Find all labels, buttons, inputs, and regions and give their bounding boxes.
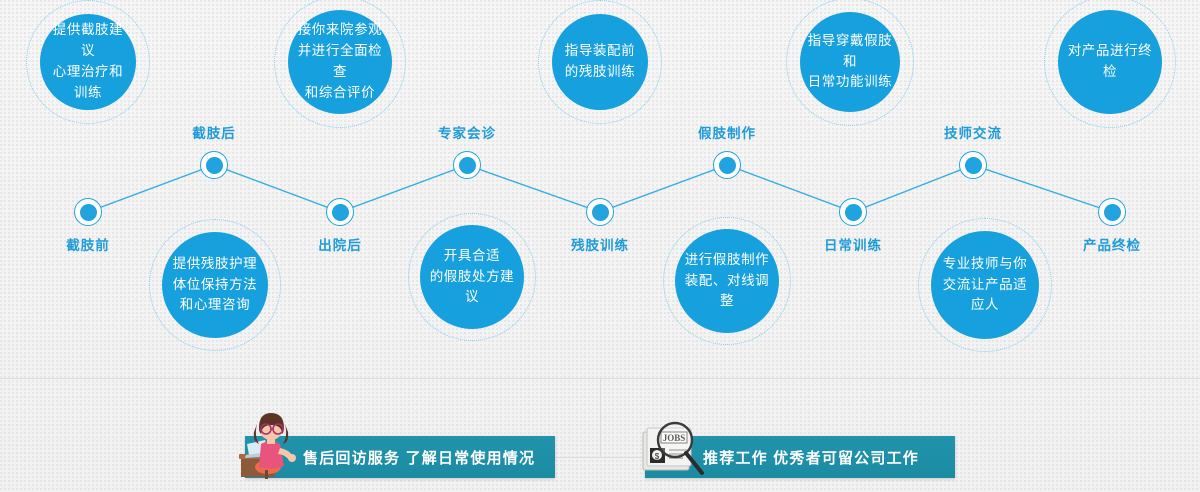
timeline-node-label-8: 技师交流 <box>913 122 1033 142</box>
timeline-node-label-9: 产品终检 <box>1052 234 1172 254</box>
banner-jobs-label: 推荐工作 优秀者可留公司工作 <box>703 447 919 468</box>
timeline-node-label-1: 截肢前 <box>28 234 148 254</box>
bubble-pre-fitting-label: 指导装配前 的残肢训练 <box>565 41 636 83</box>
timeline-node-label-2: 截肢后 <box>154 122 274 142</box>
timeline-node-2[interactable] <box>200 151 228 179</box>
timeline-node-6[interactable] <box>713 151 741 179</box>
bubble-amputation-advice[interactable]: 提供截肢建议 心理治疗和训练 <box>40 14 136 110</box>
bubble-stump-care[interactable]: 提供残肢护理 体位保持方法 和心理咨询 <box>162 232 268 338</box>
bubble-prescription-label: 开具合适 的假肢处方建议 <box>426 246 518 309</box>
banner-jobs[interactable]: JOBS $ 推荐工作 优秀者可留公司工作 <box>645 436 955 478</box>
bubble-prescription[interactable]: 开具合适 的假肢处方建议 <box>420 225 524 329</box>
banner-aftersales-label: 售后回访服务 了解日常使用情况 <box>303 447 535 468</box>
bubble-wearing-guidance-label: 指导穿戴假肢和 日常功能训练 <box>806 31 894 94</box>
timeline-node-9[interactable] <box>1098 198 1126 226</box>
bubble-technician-chat[interactable]: 专业技师与你 交流让产品适应人 <box>931 231 1039 339</box>
jobs-newspaper-magnifier-icon: JOBS $ <box>635 410 713 482</box>
woman-at-desk-icon <box>235 410 313 482</box>
svg-text:$: $ <box>655 452 660 461</box>
bubble-amputation-advice-label: 提供截肢建议 心理治疗和训练 <box>46 20 130 104</box>
bubble-fabrication[interactable]: 进行假肢制作 装配、对线调整 <box>675 229 779 333</box>
timeline-node-1[interactable] <box>74 198 102 226</box>
bubble-hospital-visit[interactable]: 接你来院参观 并进行全面检查 和综合评价 <box>288 10 392 114</box>
timeline-node-7[interactable] <box>839 198 867 226</box>
timeline-node-label-5: 残肢训练 <box>540 234 660 254</box>
divider-line-vertical <box>600 378 601 457</box>
timeline-node-label-4: 专家会诊 <box>407 122 527 142</box>
bubble-fabrication-label: 进行假肢制作 装配、对线调整 <box>681 250 773 313</box>
timeline-node-label-7: 日常训练 <box>793 234 913 254</box>
timeline-node-label-3: 出院后 <box>280 234 400 254</box>
bubble-technician-chat-label: 专业技师与你 交流让产品适应人 <box>937 254 1033 317</box>
timeline-node-5[interactable] <box>586 198 614 226</box>
banner-aftersales[interactable]: 售后回访服务 了解日常使用情况 <box>245 436 555 478</box>
bubble-hospital-visit-label: 接你来院参观 并进行全面检查 和综合评价 <box>294 20 386 104</box>
bubble-pre-fitting[interactable]: 指导装配前 的残肢训练 <box>552 14 648 110</box>
bubble-final-inspection[interactable]: 对产品进行终检 <box>1058 10 1162 114</box>
timeline-node-4[interactable] <box>453 151 481 179</box>
timeline-node-label-6: 假肢制作 <box>667 122 787 142</box>
bubble-stump-care-label: 提供残肢护理 体位保持方法 和心理咨询 <box>173 254 258 317</box>
timeline-node-3[interactable] <box>326 198 354 226</box>
service-flow-infographic: 提供截肢建议 心理治疗和训练接你来院参观 并进行全面检查 和综合评价指导装配前 … <box>0 0 1200 492</box>
bubble-wearing-guidance[interactable]: 指导穿戴假肢和 日常功能训练 <box>800 12 900 112</box>
bubble-final-inspection-label: 对产品进行终检 <box>1064 41 1156 83</box>
timeline-node-8[interactable] <box>959 151 987 179</box>
